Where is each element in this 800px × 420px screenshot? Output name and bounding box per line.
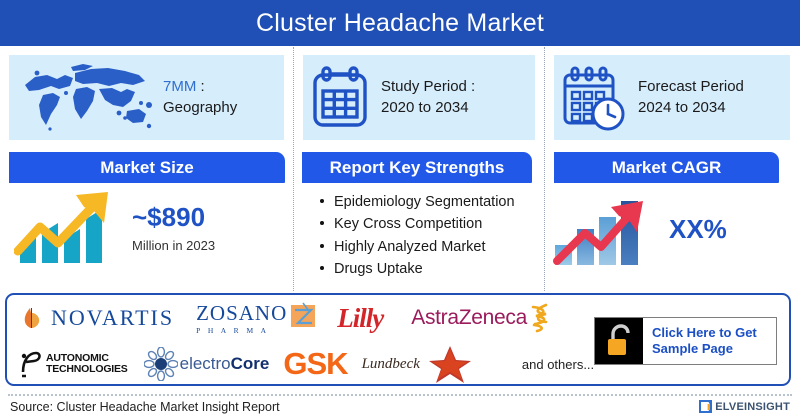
study-period-card: Study Period : 2020 to 2034 [303,55,535,140]
astrazeneca-helix-icon [528,303,554,333]
autonomic-mark-icon [19,350,43,378]
cta-line1: Click Here to Get [652,325,757,341]
section-header-market-size: Market Size [9,152,285,183]
calendar-clock-icon [560,64,628,132]
column-market-size: 7MM : Geography Market Size [0,47,293,291]
logo-starfish-icon [428,344,472,384]
logo-gsk: GSK [283,346,347,382]
autonomic-line2: TECHNOLOGIES [46,364,128,375]
sample-page-cta-label: Click Here to Get Sample Page [652,325,757,358]
bar-chart-red-arrow-icon [551,189,663,269]
lundbeck-wordmark: Lundbeck [362,356,420,373]
novartis-flame-icon [19,305,45,331]
column-key-strengths: Study Period : 2020 to 2034 Report Key S… [293,47,545,291]
infographic-page: Cluster Headache Market [0,0,800,420]
logo-lilly: Lilly [337,303,383,334]
geography-highlight: 7MM [163,78,196,95]
forecast-period-line1: Forecast Period [638,77,744,97]
logo-lundbeck: Lundbeck [362,356,420,373]
company-logos-panel: NOVARTIS ZOSANO P H A R M A Lilly Astr [5,293,791,386]
geography-label: 7MM : Geography [163,77,280,118]
section-title-key-strengths: Report Key Strengths [330,158,505,178]
market-cagr-body: XX% [545,183,799,269]
page-title: Cluster Headache Market [256,9,544,38]
section-header-key-strengths: Report Key Strengths [302,152,532,183]
source-label: Source: Cluster Headache Market Insight … [10,400,280,414]
list-item: Drugs Uptake [320,258,544,280]
world-map-icon [13,59,163,137]
market-size-subtitle: Million in 2023 [132,238,215,253]
title-banner: Cluster Headache Market [0,0,800,46]
section-title-market-size: Market Size [100,158,194,178]
electrocore-bold: Core [231,354,270,373]
zosano-mark-icon [289,301,317,329]
study-period-line1: Study Period : [381,77,475,97]
footer-divider [8,394,792,396]
market-size-value: ~$890 [132,204,215,230]
forecast-period-line2: 2024 to 2034 [638,98,744,118]
section-title-market-cagr: Market CAGR [612,158,722,178]
column-market-cagr: Forecast Period 2024 to 2034 Market CAGR [545,47,799,291]
columns-container: 7MM : Geography Market Size [0,47,800,291]
and-others-label: and others... [522,357,594,372]
study-period-label: Study Period : 2020 to 2034 [381,77,475,118]
zosano-wordmark: ZOSANO [196,301,287,326]
list-item: Epidemiology Segmentation [320,191,544,213]
market-cagr-value: XX% [669,214,727,245]
delveinsight-wordmark: ELVEINSIGHT [715,401,790,413]
bar-chart-up-arrow-icon [14,189,126,267]
electrocore-flower-icon [144,347,178,381]
novartis-wordmark: NOVARTIS [51,305,174,331]
market-size-body: ~$890 Million in 2023 [0,183,293,267]
list-item: Highly Analyzed Market [320,236,544,258]
forecast-period-card: Forecast Period 2024 to 2034 [554,55,790,140]
logo-autonomic-technologies: AUTONOMIC TECHNOLOGIES [19,350,128,378]
electrocore-light: electro [180,354,231,373]
logo-zosano: ZOSANO P H A R M A [196,301,317,335]
calendar-icon [309,65,371,131]
delveinsight-logo-icon [699,399,713,414]
logo-electrocore: electroCore [144,347,270,381]
autonomic-wordmark: AUTONOMIC TECHNOLOGIES [46,353,128,375]
list-item: Key Cross Competition [320,213,544,235]
cta-line2: Sample Page [652,341,757,357]
astrazeneca-wordmark: AstraZeneca [411,306,527,330]
study-period-line2: 2020 to 2034 [381,98,475,118]
zosano-subtext: P H A R M A [196,326,287,335]
sample-page-cta[interactable]: Click Here to Get Sample Page [594,317,777,365]
padlock-open-icon [595,318,643,364]
delveinsight-brand: ELVEINSIGHT [699,399,790,414]
geography-card: 7MM : Geography [9,55,284,140]
logo-novartis: NOVARTIS [19,305,174,331]
logo-astrazeneca: AstraZeneca [393,303,554,333]
electrocore-wordmark: electroCore [180,354,270,374]
key-strengths-list: Epidemiology Segmentation Key Cross Comp… [294,191,544,281]
forecast-period-label: Forecast Period 2024 to 2034 [638,77,744,118]
section-header-market-cagr: Market CAGR [554,152,779,183]
